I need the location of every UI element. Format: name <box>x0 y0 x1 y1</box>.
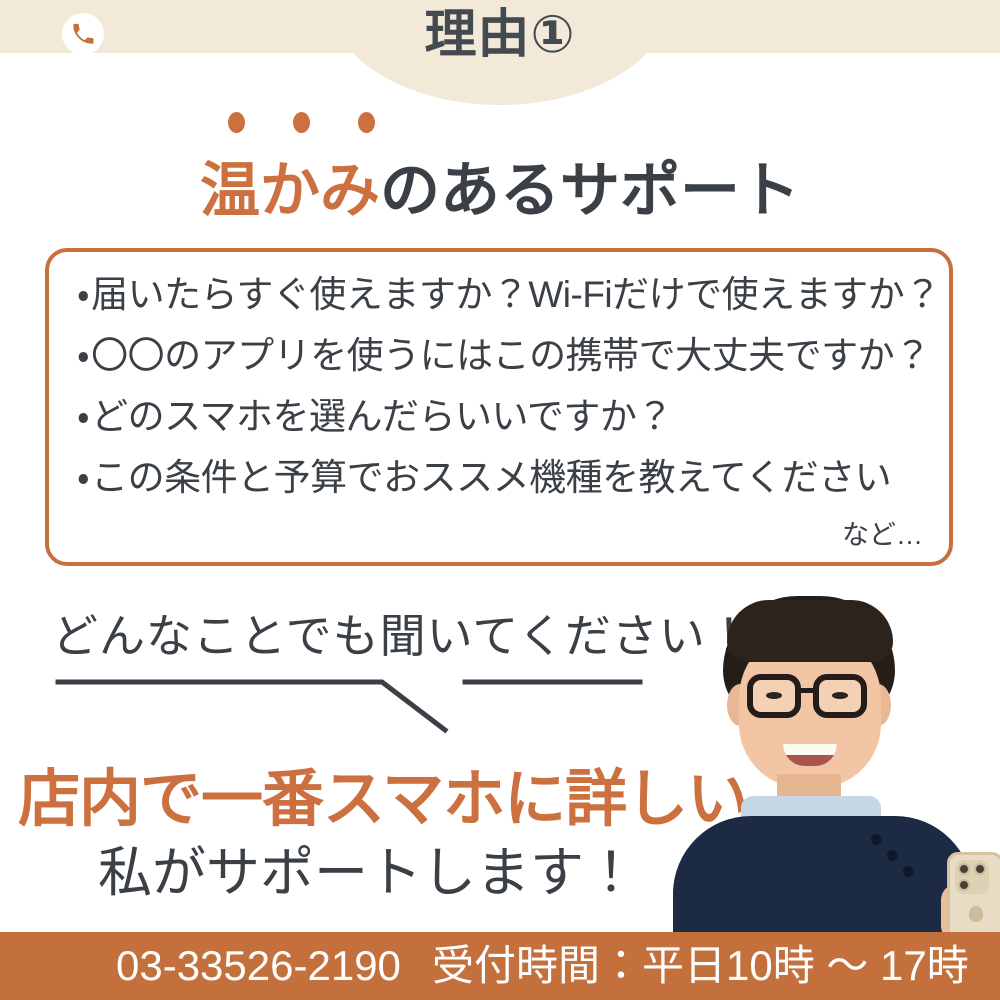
question-list: ・届いたらすぐ使えますか？Wi-Fiだけで使えますか？ ・〇〇のアプリを使うには… <box>77 276 933 520</box>
staff-photo <box>655 588 1000 936</box>
photo-fringe <box>727 600 893 662</box>
business-hours: 受付時間：平日10時 〜 17時 <box>432 934 969 998</box>
photo-sweater-button <box>887 850 898 861</box>
bullet-marker: ・ <box>77 457 89 498</box>
phone-handset-icon <box>70 21 96 47</box>
ask-anything-text: どんなことでも聞いてください！ <box>52 600 753 666</box>
callout-headline: 店内で一番スマホに詳しい <box>18 748 718 838</box>
photo-phone-logo <box>969 906 983 922</box>
list-item: ・届いたらすぐ使えますか？Wi-Fiだけで使えますか？ <box>77 276 933 313</box>
page-title: 温かみのあるサポート <box>0 142 1000 229</box>
list-item-label: 届いたらすぐ使えますか？Wi-Fiだけで使えますか？ <box>91 274 941 315</box>
speech-bubble-underline-icon <box>40 668 690 740</box>
photo-phone-lens <box>958 863 970 875</box>
emphasis-dots <box>225 112 465 138</box>
bullet-marker: ・ <box>77 335 89 376</box>
list-item: ・どのスマホを選んだらいいですか？ <box>77 398 933 435</box>
phone-icon[interactable] <box>62 13 104 55</box>
page-title-accent: 温かみ <box>200 157 380 224</box>
photo-eye-left <box>766 692 782 699</box>
photo-eye-right <box>832 692 848 699</box>
photo-glasses-bridge <box>801 688 815 693</box>
photo-teeth <box>783 744 837 755</box>
photo-phone-lens <box>974 863 986 875</box>
list-item: ・〇〇のアプリを使うにはこの携帯で大丈夫ですか？ <box>77 337 933 374</box>
banner-title: 理由① <box>0 6 1000 66</box>
emphasis-dot <box>293 112 310 133</box>
photo-sweater-button <box>903 866 914 877</box>
phone-number[interactable]: 03-33526-2190 <box>116 934 401 998</box>
photo-phone-lens <box>958 879 970 891</box>
emphasis-dot <box>228 112 245 133</box>
list-item-label: どのスマホを選んだらいいですか？ <box>91 396 673 437</box>
bullet-marker: ・ <box>77 274 89 315</box>
list-item-label: 〇〇のアプリを使うにはこの携帯で大丈夫ですか？ <box>91 335 931 376</box>
list-item-label: この条件と予算でおススメ機種を教えてください <box>91 457 891 498</box>
promo-page: 理由① 温かみのあるサポート ・届いたらすぐ使えますか？Wi-Fiだけで使えます… <box>0 0 1000 1000</box>
list-item: ・この条件と予算でおススメ機種を教えてください <box>77 459 933 496</box>
photo-sweater-button <box>871 834 882 845</box>
callout-subheadline: 私がサポートします！ <box>18 828 718 907</box>
emphasis-dot <box>358 112 375 133</box>
etc-note: など… <box>842 513 923 552</box>
page-title-rest: のあるサポート <box>380 157 800 224</box>
question-box: ・届いたらすぐ使えますか？Wi-Fiだけで使えますか？ ・〇〇のアプリを使うには… <box>45 248 953 566</box>
bullet-marker: ・ <box>77 396 89 437</box>
